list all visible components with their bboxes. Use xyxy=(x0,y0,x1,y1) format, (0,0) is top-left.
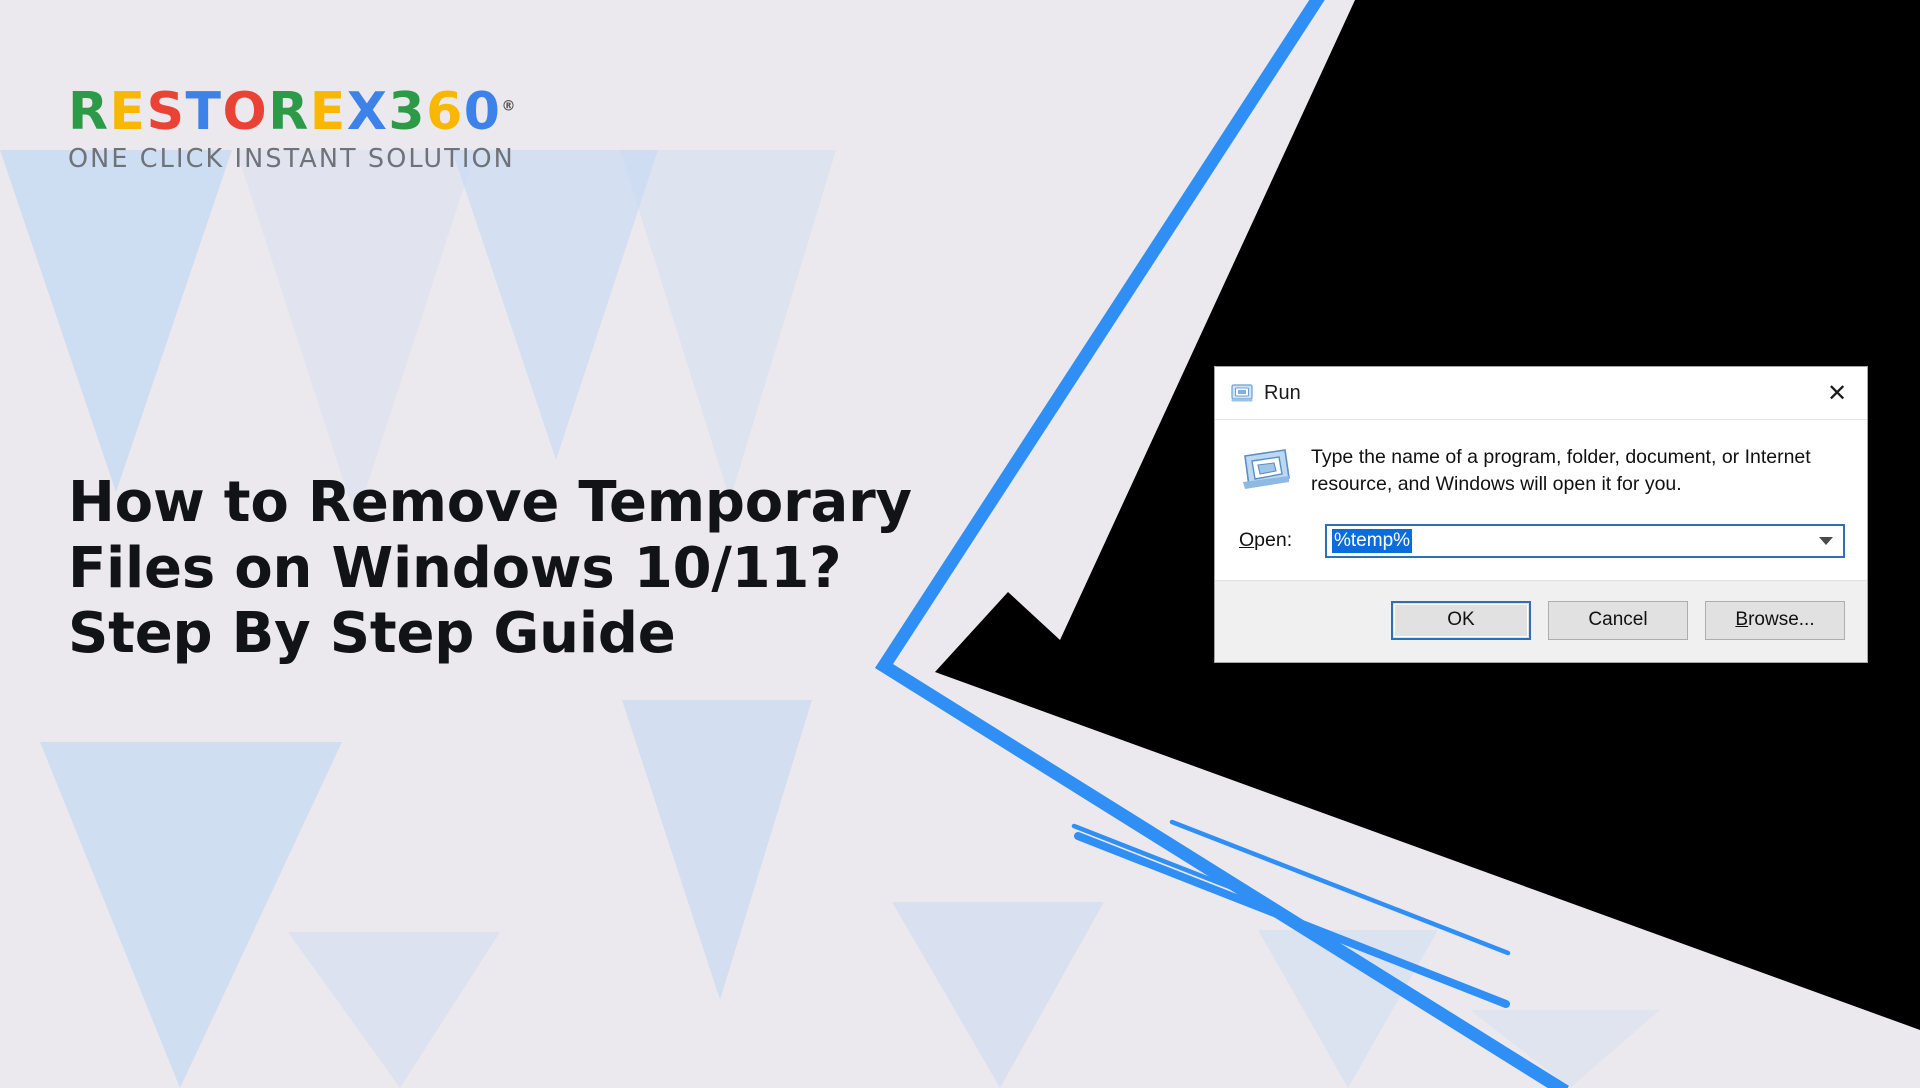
chevron-down-icon[interactable] xyxy=(1819,537,1833,545)
speed-line xyxy=(1078,836,1506,1004)
open-combobox[interactable]: %temp% xyxy=(1325,524,1845,558)
run-open-row: Open: %temp% xyxy=(1237,524,1845,558)
logo-letter-3: 3 xyxy=(388,82,426,142)
ok-button[interactable]: OK xyxy=(1391,601,1531,640)
brand-logo: RESTOREX360® ONE CLICK INSTANT SOLUTION xyxy=(68,86,588,174)
page-title: How to Remove Temporary Files on Windows… xyxy=(68,470,998,667)
browse-accelerator: B xyxy=(1735,609,1748,631)
logo-letter-e1: E xyxy=(110,82,147,142)
open-label-accelerator: O xyxy=(1239,529,1254,551)
run-dialog-title: Run xyxy=(1264,382,1813,405)
run-dialog-titlebar: Run ✕ xyxy=(1215,367,1867,420)
logo-letter-t: T xyxy=(186,82,223,142)
logo-letter-o: O xyxy=(223,82,269,142)
run-dialog-description: Type the name of a program, folder, docu… xyxy=(1311,444,1841,498)
logo-letter-e2: E xyxy=(310,82,347,142)
cancel-button[interactable]: Cancel xyxy=(1548,601,1688,640)
logo-letter-x: X xyxy=(347,82,389,142)
run-description-line-2: resource, and Windows will open it for y… xyxy=(1311,473,1682,495)
run-dialog-body: Type the name of a program, folder, docu… xyxy=(1215,420,1867,580)
logo-letter-6: 6 xyxy=(426,82,464,142)
speed-line xyxy=(1172,822,1508,953)
run-dialog: Run ✕ Type the name of a program, folder… xyxy=(1214,366,1868,663)
headline-line-1: How to Remove Temporary xyxy=(68,470,998,536)
logo-wordmark: RESTOREX360® xyxy=(68,86,588,138)
logo-letter-r1: R xyxy=(68,82,110,142)
poster-canvas: RESTOREX360® ONE CLICK INSTANT SOLUTION … xyxy=(0,0,1920,1088)
open-label-rest: pen: xyxy=(1254,529,1292,551)
speed-line xyxy=(1074,826,1268,902)
browse-label-rest: rowse... xyxy=(1748,609,1815,631)
run-program-icon xyxy=(1241,446,1293,492)
brand-tagline: ONE CLICK INSTANT SOLUTION xyxy=(68,144,588,174)
browse-button[interactable]: Browse... xyxy=(1705,601,1845,640)
open-input-value[interactable]: %temp% xyxy=(1332,529,1412,553)
logo-letter-s: S xyxy=(147,82,186,142)
run-dialog-footer: OK Cancel Browse... xyxy=(1215,580,1867,662)
logo-letter-r2: R xyxy=(268,82,310,142)
open-field-label: Open: xyxy=(1239,529,1325,552)
run-window-icon xyxy=(1231,383,1253,403)
registered-trademark-mark: ® xyxy=(501,99,515,115)
run-description-line-1: Type the name of a program, folder, docu… xyxy=(1311,446,1811,468)
close-icon[interactable]: ✕ xyxy=(1813,371,1861,415)
logo-letter-0: 0 xyxy=(464,82,502,142)
run-description-row: Type the name of a program, folder, docu… xyxy=(1237,444,1845,498)
headline-line-2: Files on Windows 10/11? xyxy=(68,536,998,602)
headline-line-3: Step By Step Guide xyxy=(68,601,998,667)
